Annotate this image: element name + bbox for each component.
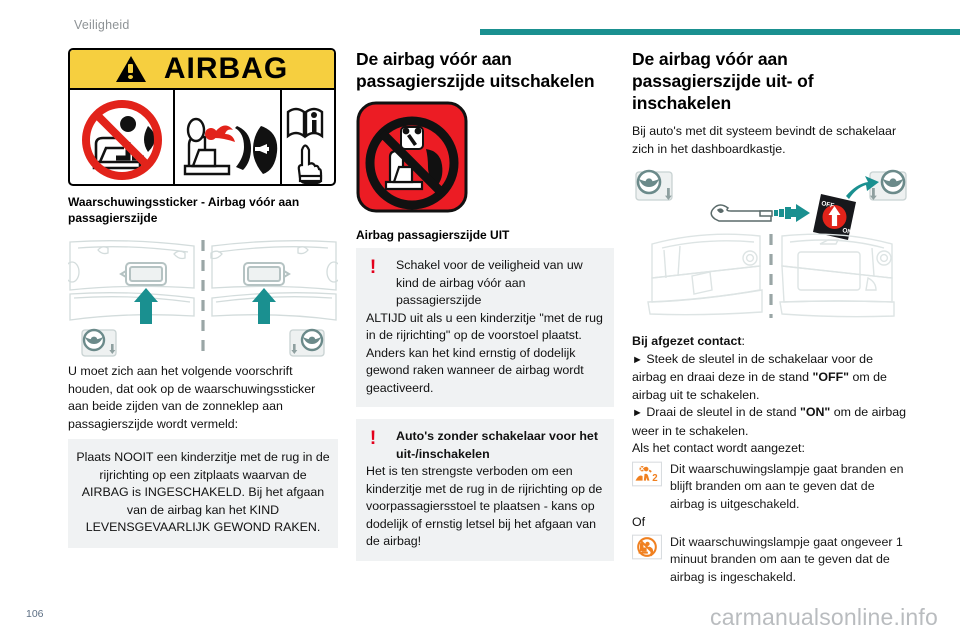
no-rearward-facing-child-seat-icon (70, 90, 175, 186)
step-on-text-a: Draai de sleutel in de stand (646, 405, 800, 419)
svg-text:2: 2 (652, 473, 657, 484)
middle-subheading: Airbag passagierszijde UIT (356, 228, 614, 242)
notice-rest: ALTIJD uit als u een kinderzitje "met de… (366, 310, 604, 398)
notice-title: Auto's zonder schakelaar voor het uit-/i… (366, 428, 604, 463)
exclamation-icon: ! (366, 258, 380, 277)
telltale-off-text: Dit waarschuwingslampje gaat branden en … (632, 461, 910, 514)
sticker-pictogram-row (70, 90, 334, 186)
page-number: 106 (26, 608, 44, 620)
airbag-on-telltale-icon (632, 534, 662, 560)
ignition-off-label-text: Bij afgezet contact (632, 334, 741, 348)
airbag-off-warning-notice: ! Schakel voor de veiligheid van uw kind… (356, 248, 614, 407)
header-rule (480, 29, 960, 35)
steering-wheel-right (290, 330, 324, 356)
steering-wheel-left (636, 171, 672, 200)
switch-position-on: "ON" (800, 405, 830, 419)
or-label: Of (632, 514, 910, 532)
left-paragraph: U moet zich aan het volgende voorschrift… (68, 363, 338, 433)
read-manual-icon (282, 90, 334, 186)
ignition-key-icon (711, 205, 772, 221)
sticker-header-band: AIRBAG (70, 50, 334, 90)
right-intro: Bij auto's met dit systeem bevindt de sc… (632, 123, 910, 158)
airbag-warning-sticker: AIRBAG (68, 48, 336, 186)
telltale-off-row: 2 Dit waarschuwingslampje gaat branden e… (632, 461, 910, 514)
airbag-deployment-into-child-icon (175, 90, 282, 186)
left-column: AIRBAG (68, 48, 338, 560)
notice-body: ! Auto's zonder schakelaar voor het uit-… (366, 428, 604, 463)
page-header: Veiligheid (0, 18, 960, 40)
notice-lead: Schakel voor de veiligheid van uw kind d… (366, 257, 604, 310)
passenger-airbag-off-label: PASSENGER AIRBAG (356, 101, 614, 218)
no-switch-warning-notice: ! Auto's zonder schakelaar voor het uit-… (356, 419, 614, 561)
sticker-airbag-word: AIRBAG (164, 54, 288, 84)
airbag-off-telltale-icon: 2 (632, 461, 662, 487)
notice-body: ! Schakel voor de veiligheid van uw kind… (366, 257, 604, 310)
airbag-switch-icon: OFF ON (813, 194, 856, 240)
telltale-on-text: Dit waarschuwingslampje gaat ongeveer 1 … (632, 534, 910, 587)
switch-position-off: "OFF" (812, 370, 849, 384)
glovebox-airbag-switch-diagram: OFF ON (632, 166, 910, 323)
steering-wheel-left (82, 330, 116, 356)
page-section-title: Veiligheid (74, 18, 130, 32)
child-seat-warning-notice: Plaats NOOIT een kinderzitje met de rug … (68, 439, 338, 548)
steering-wheel-right (870, 171, 906, 200)
right-heading: De airbag vóór aan passagierszijde uit- … (632, 48, 910, 114)
telltale-on-row: Dit waarschuwingslampje gaat ongeveer 1 … (632, 534, 910, 587)
sticker-caption: Waarschuwingssticker - Airbag vóór aan p… (68, 194, 338, 226)
bullet-arrow-icon: ► (632, 407, 643, 419)
site-watermark: carmanualsonline.info (710, 604, 938, 631)
middle-column: De airbag vóór aan passagierszijde uitsc… (356, 48, 614, 573)
exclamation-icon: ! (366, 429, 380, 448)
step-off: ► Steek de sleutel in de schakelaar voor… (632, 351, 910, 405)
child-seat-warning-text: Plaats NOOIT een kinderzitje met de rug … (76, 450, 329, 534)
key-insert-arrow (774, 204, 810, 222)
manual-page: Veiligheid AIRBAG (0, 0, 960, 640)
notice-rest: Het is ten strengste verboden om een kin… (366, 463, 604, 551)
right-column: De airbag vóór aan passagierszijde uit- … (632, 48, 910, 586)
step-on: ► Draai de sleutel in de stand "ON" om d… (632, 404, 910, 440)
ignition-off-label: Bij afgezet contact: (632, 333, 910, 351)
sun-visor-sticker-location-diagram (68, 236, 338, 363)
ignition-on-label: Als het contact wordt aangezet: (632, 440, 910, 458)
warning-triangle-icon (116, 56, 146, 82)
middle-heading: De airbag vóór aan passagierszijde uitsc… (356, 48, 614, 92)
bullet-arrow-icon: ► (632, 354, 643, 366)
